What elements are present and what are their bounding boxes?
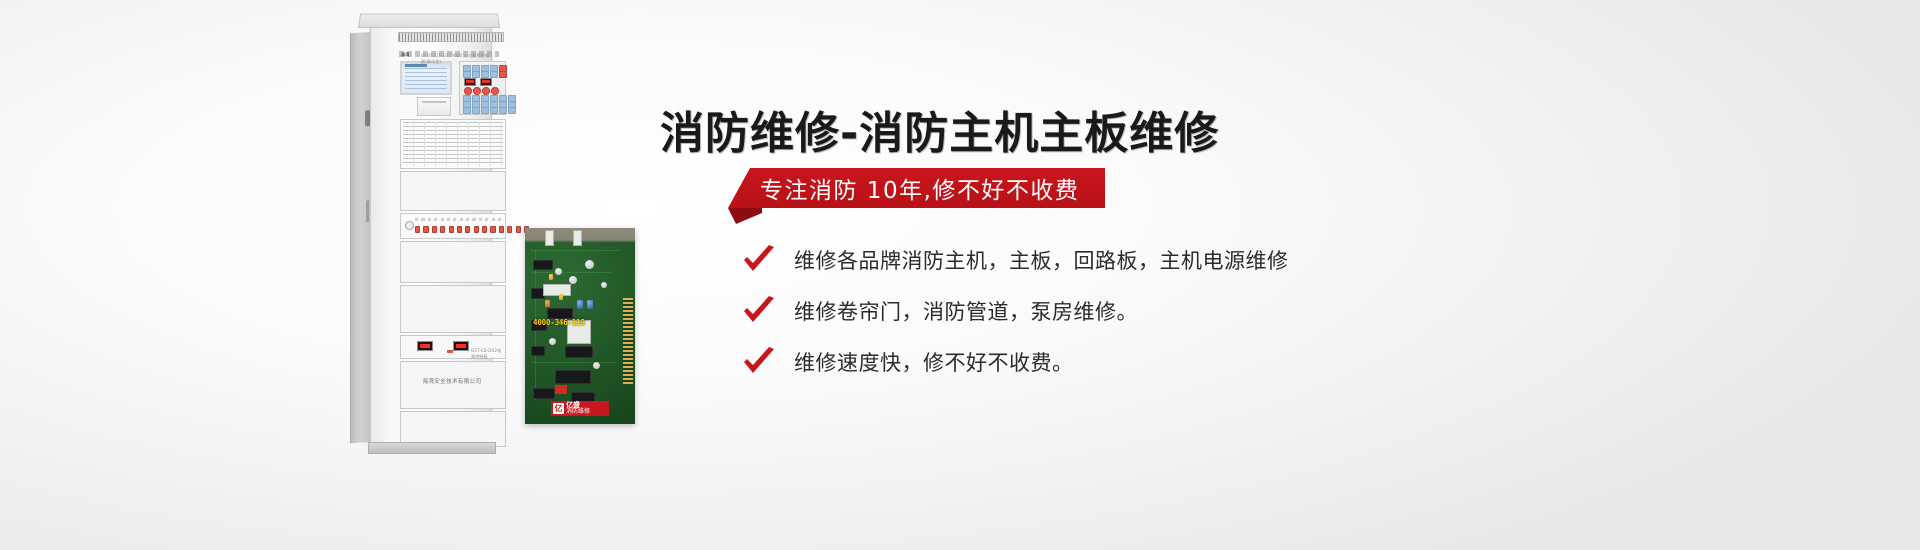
- mainboard-pcb-image: 4000-346-119 亿 亿盛 消防维修: [525, 228, 635, 424]
- pcb-header-1: [545, 230, 554, 246]
- promo-banner: GST-LD-D02电源控制板 海湾安全技术有限公司 海湾 JB-QG/QT-G…: [0, 0, 1920, 550]
- check-icon: [742, 347, 776, 377]
- pcb-phone-number: 4000-346-119: [533, 318, 585, 327]
- cabinet-top: [358, 14, 500, 28]
- cabinet-zone-display-panel: [400, 119, 506, 169]
- check-icon: [742, 296, 776, 326]
- led-lamps-row: [415, 226, 529, 233]
- lcd-text-rows: [405, 68, 447, 90]
- list-item-label: 维修速度快，修不好不收费。: [794, 347, 1074, 377]
- logo-mark: 亿: [553, 403, 564, 414]
- fire-alarm-cabinet-image: GST-LD-D02电源控制板 海湾安全技术有限公司 海湾 JB-QG/QT-G…: [350, 12, 510, 452]
- cabinet-lcd-screen: [400, 61, 452, 95]
- cabinet-led-indicator-panel: [400, 213, 506, 239]
- pcb-ic-socket: [543, 284, 571, 296]
- cabinet-power-panel: GST-LD-D02电源控制板: [400, 335, 506, 359]
- pcb-watermark-logo: 亿 亿盛 消防维修: [551, 401, 609, 416]
- cabinet-blank-panel-1: [400, 171, 506, 211]
- banner-headline: 消防维修-消防主机主板维修: [660, 97, 1219, 161]
- cabinet-blank-panel-2: [400, 241, 506, 283]
- pcb-substrate: [525, 242, 635, 424]
- cabinet-handle-icon: [366, 200, 369, 222]
- list-item: 维修卷帘门，消防管道，泵房维修。: [742, 296, 1289, 326]
- list-item-label: 维修卷帘门，消防管道，泵房维修。: [794, 296, 1138, 326]
- pcb-red-component: [555, 385, 567, 394]
- list-item: 维修速度快，修不好不收费。: [742, 347, 1289, 377]
- list-item: 维修各品牌消防主机，主板，回路板，主机电源维修: [742, 245, 1289, 275]
- check-icon: [742, 245, 776, 275]
- ribbon-tail: [728, 208, 762, 224]
- cabinet-vent: [398, 32, 504, 42]
- power-panel-label: GST-LD-D02电源控制板: [471, 348, 505, 360]
- cabinet-printer-slot: [417, 97, 451, 116]
- cabinet-keypad: [459, 61, 506, 115]
- printer-paper-slot: [422, 101, 446, 103]
- pcb-header-2: [573, 230, 582, 246]
- cabinet-base: [368, 442, 496, 454]
- ribbon-body: 专注消防 10年,修不好不收费: [728, 168, 1105, 208]
- feature-list: 维修各品牌消防主机，主板，回路板，主机电源维修 维修卷帘门，消防管道，泵房维修。…: [742, 245, 1289, 398]
- logo-text: 亿盛 消防维修: [566, 401, 590, 416]
- zone-grid: [403, 122, 503, 166]
- cabinet-brand-text: 海湾: [401, 52, 409, 58]
- cabinet-blank-panel-4: [400, 361, 506, 409]
- pcb-edge-connector: [623, 298, 633, 384]
- list-item-label: 维修各品牌消防主机，主板，回路板，主机电源维修: [794, 245, 1289, 275]
- cabinet-company-label: 海湾安全技术有限公司: [400, 377, 504, 385]
- led-labels-row: [415, 218, 501, 221]
- logo-line-2: 消防维修: [566, 408, 590, 415]
- banner-ribbon: 专注消防 10年,修不好不收费: [728, 168, 1105, 208]
- power-button[interactable]: [447, 350, 453, 353]
- cabinet-blank-panel-3: [400, 285, 506, 333]
- ribbon-text: 专注消防 10年,修不好不收费: [760, 171, 1079, 205]
- cabinet-model-text: JB-QG/QT-GST9000 火灾报警控制器(联动型): [421, 53, 491, 65]
- cabinet-front-panel: GST-LD-D02电源控制板 海湾安全技术有限公司 海湾 JB-QG/QT-G…: [370, 20, 492, 446]
- banner-content: 消防维修-消防主机主板维修 专注消防 10年,修不好不收费 维修各品牌消防主机，…: [660, 0, 1860, 550]
- rotary-knob-icon: [405, 221, 414, 230]
